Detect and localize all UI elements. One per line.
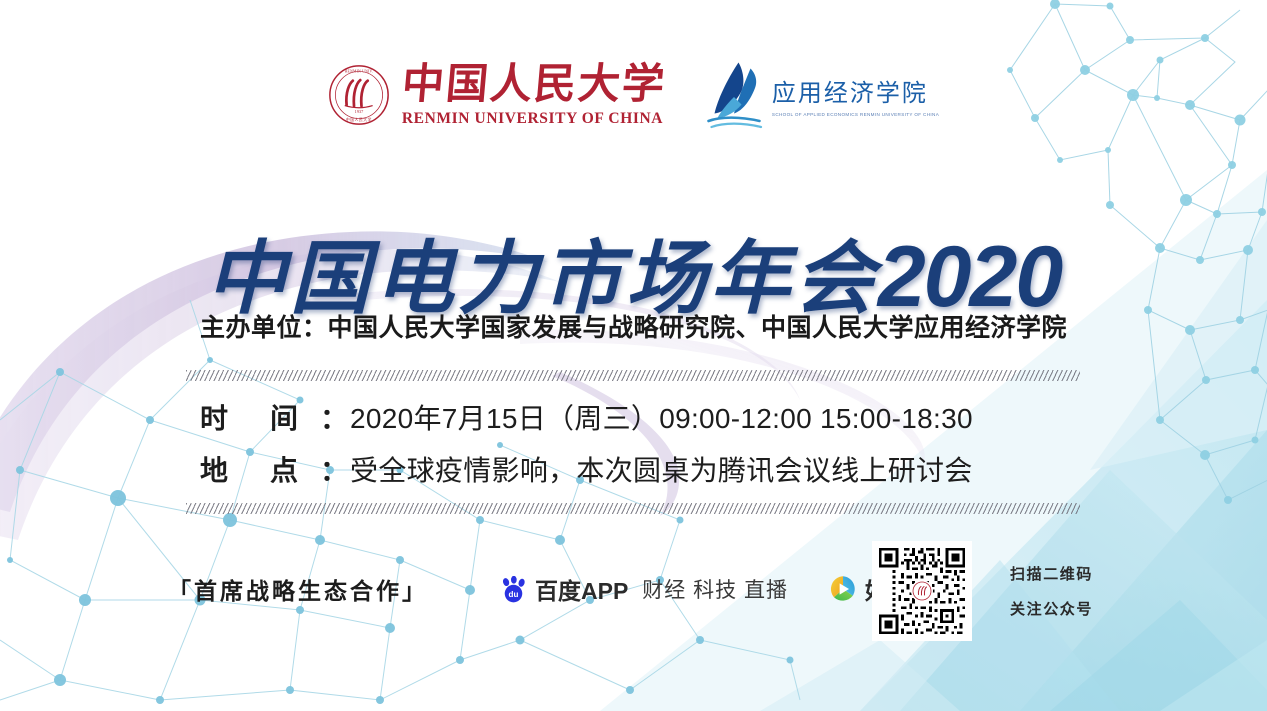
chief-strategic-partner-tag: 「首席战略生态合作」 bbox=[168, 572, 428, 606]
qr-caption-line-2: 关注公众号 bbox=[1010, 598, 1093, 619]
ruc-name-en: RENMIN UNIVERSITY OF CHINA bbox=[402, 111, 663, 127]
event-poster: 1937 RENMIN UNIV. 中国人民大学 中国人民大学 RENMIN U… bbox=[0, 0, 1267, 711]
hatched-divider-top bbox=[186, 370, 1080, 381]
event-details: 时间：2020年7月15日（周三）09:00-12:00 15:00-18:30… bbox=[186, 370, 1080, 514]
detail-row-location: 地点：受全球疫情影响，本次圆桌为腾讯会议线上研讨会 bbox=[200, 449, 1080, 489]
baidu-paw-icon: du bbox=[500, 576, 527, 603]
baidu-categories: 财经 科技 直播 bbox=[642, 574, 788, 604]
qr-code-icon[interactable] bbox=[872, 541, 972, 641]
detail-label-location: 地点 bbox=[200, 449, 320, 489]
hatched-divider-bottom bbox=[186, 503, 1080, 514]
ruc-seal-icon: 1937 RENMIN UNIV. 中国人民大学 bbox=[328, 64, 390, 126]
detail-colon-time: ： bbox=[320, 397, 348, 437]
baidu-app-name: 百度APP bbox=[535, 572, 628, 606]
qr-caption-line-1: 扫描二维码 bbox=[1010, 563, 1093, 584]
svg-text:du: du bbox=[509, 589, 519, 598]
sae-name-cn: 应用经济学院 bbox=[772, 73, 928, 108]
qr-center-ruc-seal-icon bbox=[911, 580, 933, 602]
sae-logo: 应用经济学院 SCHOOL OF APPLIED ECONOMICS RENMI… bbox=[704, 58, 939, 132]
detail-value-time: 2020年7月15日（周三）09:00-12:00 15:00-18:30 bbox=[350, 397, 973, 437]
detail-row-time: 时间：2020年7月15日（周三）09:00-12:00 15:00-18:30 bbox=[200, 397, 1080, 437]
play-button-icon bbox=[828, 574, 858, 604]
organizer-line: 主办单位：中国人民大学国家发展与战略研究院、中国人民大学应用经济学院 bbox=[0, 308, 1267, 344]
ruc-logo: 1937 RENMIN UNIV. 中国人民大学 中国人民大学 RENMIN U… bbox=[328, 64, 666, 127]
detail-value-location: 受全球疫情影响，本次圆桌为腾讯会议线上研讨会 bbox=[350, 449, 973, 489]
svg-text:RENMIN UNIV.: RENMIN UNIV. bbox=[345, 70, 373, 74]
sae-name-en: SCHOOL OF APPLIED ECONOMICS RENMIN UNIVE… bbox=[772, 112, 939, 117]
detail-label-time: 时间 bbox=[200, 397, 320, 437]
ruc-name-cn: 中国人民大学 bbox=[400, 64, 668, 106]
partner-row: 「首席战略生态合作」 du 百度APP 财经 科技 直播 bbox=[168, 572, 961, 606]
qr-block: 扫描二维码 关注公众号 bbox=[872, 541, 1093, 641]
sailboat-icon bbox=[704, 58, 764, 132]
logo-row: 1937 RENMIN UNIV. 中国人民大学 中国人民大学 RENMIN U… bbox=[0, 58, 1267, 132]
svg-text:中国人民大学: 中国人民大学 bbox=[346, 117, 372, 122]
svg-text:1937: 1937 bbox=[355, 109, 364, 114]
detail-colon-location: ： bbox=[320, 449, 348, 489]
baidu-app-logo: du 百度APP 财经 科技 直播 bbox=[500, 572, 788, 606]
